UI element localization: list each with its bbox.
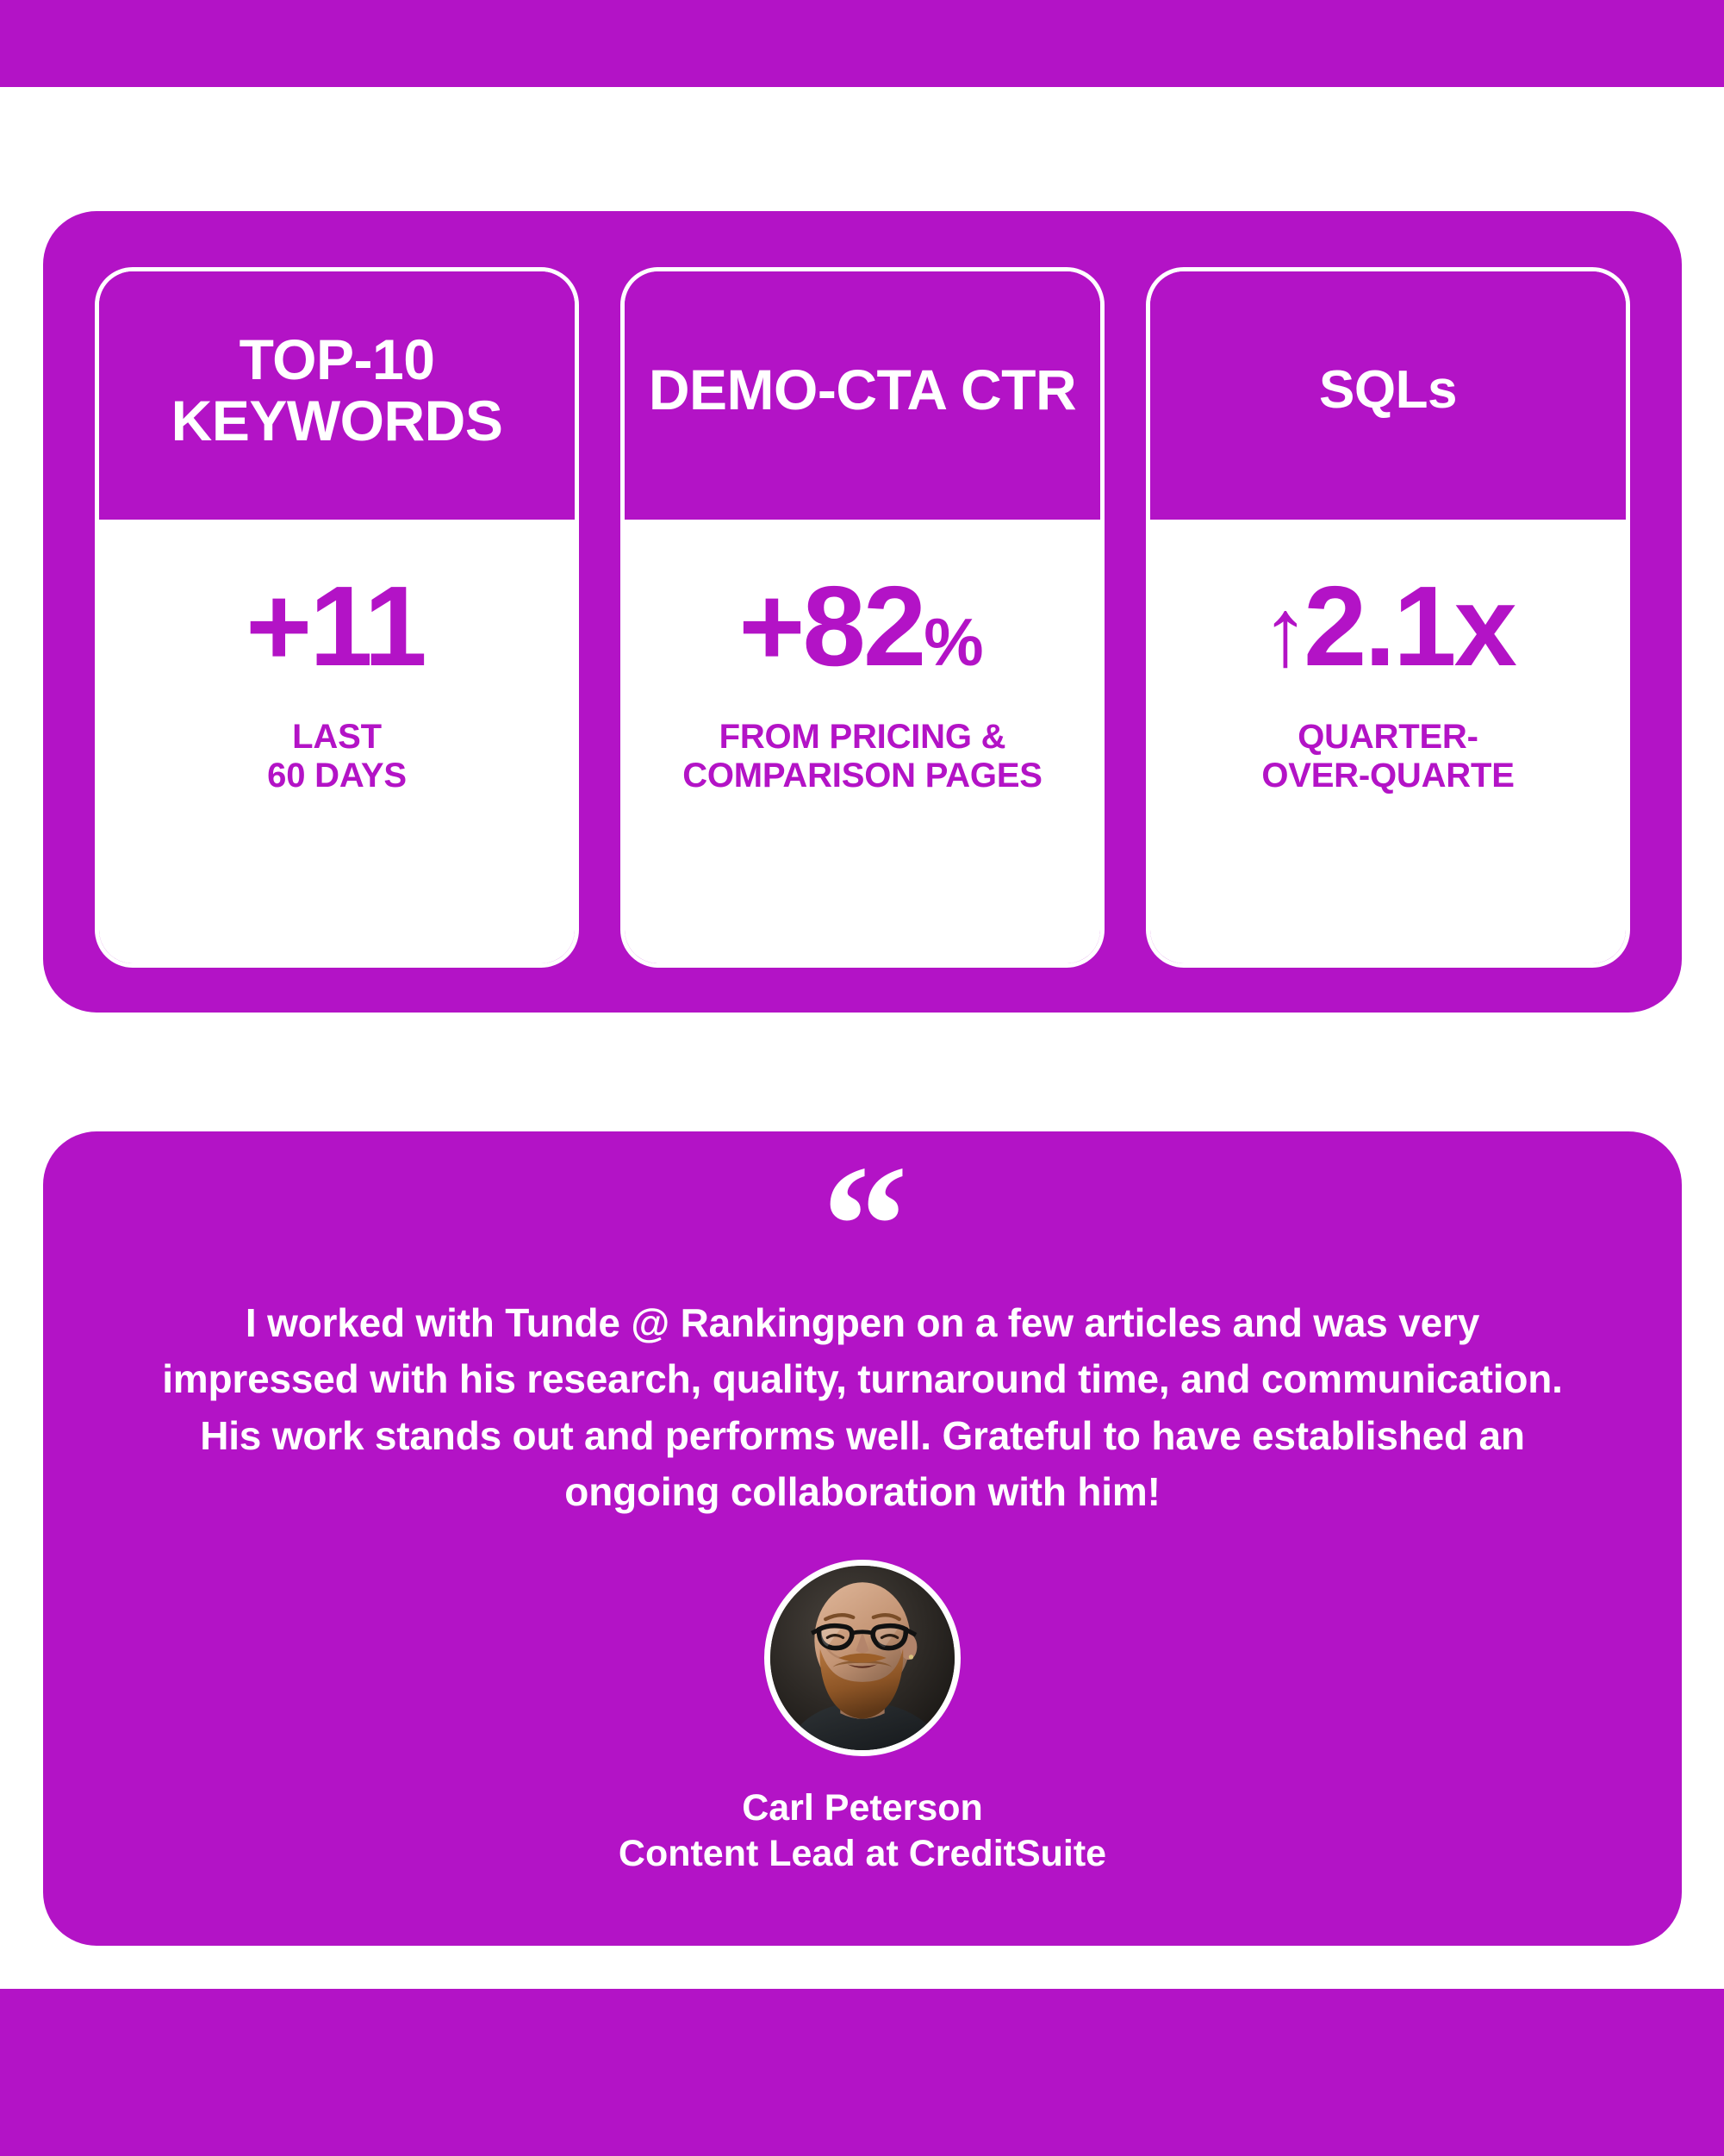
stat-caption: LAST 60 DAYS	[258, 718, 415, 795]
stat-value-number: 2.1x	[1304, 570, 1515, 683]
stat-caption: FROM PRICING & COMPARISON PAGES	[674, 718, 1051, 795]
stat-card-body: ↑ 2.1x QUARTER- OVER-QUARTE	[1150, 520, 1626, 963]
stat-card-body: +11 LAST 60 DAYS	[99, 520, 575, 963]
stat-caption-line-1: FROM PRICING &	[682, 718, 1042, 757]
top-brand-bar	[0, 0, 1724, 87]
stat-card-top-10-keywords[interactable]: TOP-10 KEYWORDS +11 LAST 60 DAYS	[95, 267, 579, 968]
bottom-brand-bar	[0, 1989, 1724, 2156]
author-role: Content Lead at CreditSuite	[619, 1831, 1106, 1876]
up-arrow-icon: ↑	[1261, 584, 1307, 681]
quote-mark-icon: “	[822, 1173, 903, 1276]
stat-caption-line-1: LAST	[267, 718, 407, 757]
stat-heading: TOP-10 KEYWORDS	[120, 329, 554, 452]
stat-value: ↑ 2.1x	[1261, 570, 1515, 683]
stat-card-header: SQLs	[1150, 271, 1626, 520]
stat-card-body: +82 % FROM PRICING & COMPARISON PAGES	[625, 520, 1100, 963]
stat-heading: SQLs	[1319, 362, 1457, 420]
stat-heading: DEMO-CTA CTR	[649, 359, 1076, 421]
stat-caption-line-2: OVER-QUARTE	[1261, 757, 1514, 795]
author-name: Carl Peterson	[742, 1785, 983, 1830]
stats-row: TOP-10 KEYWORDS +11 LAST 60 DAYS DEMO-CT…	[43, 211, 1682, 1013]
testimonial-quote: I worked with Tunde @ Rankingpen on a fe…	[156, 1295, 1569, 1520]
stat-card-header: TOP-10 KEYWORDS	[99, 271, 575, 520]
stat-card-header: DEMO-CTA CTR	[625, 271, 1100, 520]
stat-caption-line-2: COMPARISON PAGES	[682, 757, 1042, 795]
stats-panel: TOP-10 KEYWORDS +11 LAST 60 DAYS DEMO-CT…	[43, 211, 1682, 1013]
avatar-portrait-icon	[770, 1566, 955, 1750]
testimonial-panel: “ I worked with Tunde @ Rankingpen on a …	[43, 1131, 1682, 1946]
stat-value: +82 %	[742, 570, 982, 683]
stat-value-number: +82	[738, 570, 924, 683]
stat-caption: QUARTER- OVER-QUARTE	[1253, 718, 1522, 795]
avatar	[764, 1560, 961, 1756]
stat-value-number: +11	[246, 570, 425, 683]
stat-caption-line-2: 60 DAYS	[267, 757, 407, 795]
stat-card-sqls[interactable]: SQLs ↑ 2.1x QUARTER- OVER-QUARTE	[1146, 267, 1630, 968]
stat-value-suffix: %	[924, 608, 982, 676]
stat-value: +11	[249, 570, 425, 683]
stat-caption-line-1: QUARTER-	[1261, 718, 1514, 757]
stat-card-demo-cta-ctr[interactable]: DEMO-CTA CTR +82 % FROM PRICING & COMPAR…	[620, 267, 1105, 968]
